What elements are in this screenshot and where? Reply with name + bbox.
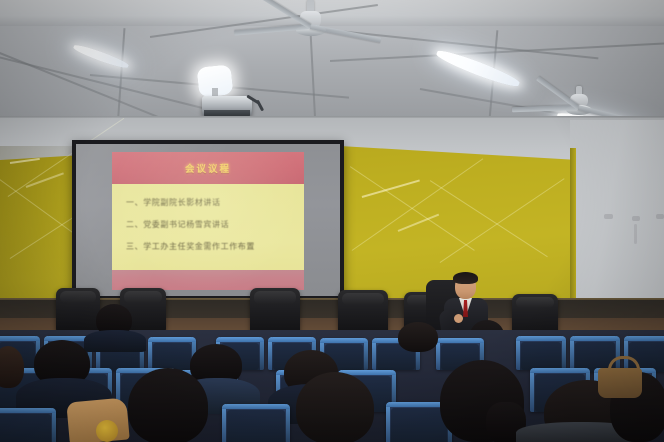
projection-screen: 会议议程 一、学院副院长影材讲话 二、党委副书记杨雪宾讲话 三、学工办主任奖金需… <box>72 140 344 300</box>
photo-scene: 会议议程 一、学院副院长影材讲话 二、党委副书记杨雪宾讲话 三、学工办主任奖金需… <box>0 0 664 442</box>
slide-agenda-item-2: 二、党委副书记杨雪宾讲话 <box>126 219 229 230</box>
audience-head <box>398 322 438 352</box>
bag-ornament <box>96 420 118 442</box>
handbag <box>598 368 642 398</box>
slide-agenda-item-3: 三、学工办主任奖金需作工作布置 <box>126 241 255 252</box>
speaker-hand <box>454 314 463 323</box>
ceiling-seam <box>330 42 664 61</box>
audience-head-foreground <box>128 368 208 442</box>
ceiling-fan <box>266 0 356 42</box>
slide-header: 会议议程 <box>112 152 304 184</box>
podium-chair <box>250 288 300 334</box>
audience-shoulders <box>84 330 146 352</box>
screen-surface: 会议议程 一、学院副院长影材讲话 二、党委副书记杨雪宾讲话 三、学工办主任奖金需… <box>76 144 340 296</box>
podium-chair <box>338 290 388 334</box>
podium-chair <box>56 288 100 332</box>
presentation-slide: 会议议程 一、学院副院长影材讲话 二、党委副书记杨雪宾讲话 三、学工办主任奖金需… <box>112 152 304 290</box>
slide-footer <box>112 270 304 290</box>
wall-mark <box>604 214 613 219</box>
audience-seat <box>148 337 196 370</box>
audience-head-foreground <box>296 372 374 442</box>
slide-title: 会议议程 <box>185 161 231 175</box>
wall-mark <box>632 216 640 221</box>
audience-seat <box>516 336 566 370</box>
audience-seat <box>0 408 56 442</box>
slide-agenda-item-1: 一、学院副院长影材讲话 <box>126 197 221 208</box>
wall-mark <box>634 224 637 244</box>
wall-mark <box>656 214 664 219</box>
speaker-hair <box>453 272 478 284</box>
audience-seat <box>222 404 290 442</box>
